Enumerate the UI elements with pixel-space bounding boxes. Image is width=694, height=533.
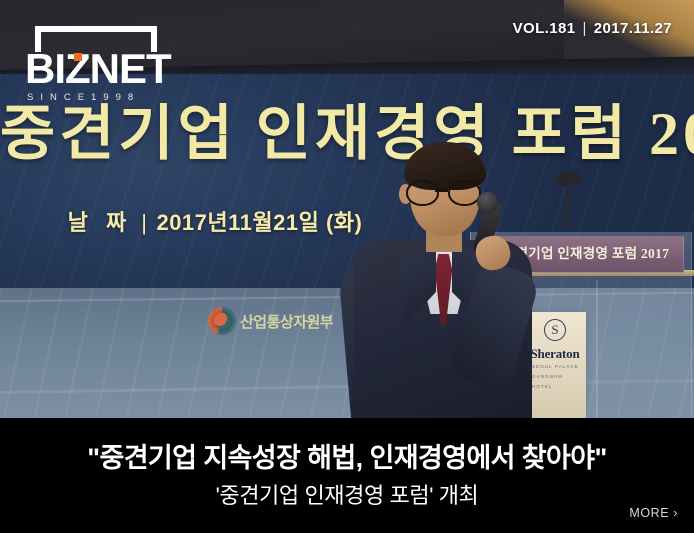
taegeuk-icon bbox=[208, 307, 236, 335]
sheraton-crest-icon: S bbox=[544, 319, 566, 341]
banner-date-separator: | bbox=[132, 210, 156, 235]
more-link[interactable]: MORE› bbox=[629, 506, 678, 520]
banner-date-label: 날 짜 bbox=[68, 210, 133, 235]
glasses-bridge bbox=[435, 189, 448, 192]
newsletter-banner: 중견기업 인재경영 포럼 2017 날 짜|2017년11월21일 (화) 산업… bbox=[0, 0, 694, 533]
caption-headline: "중견기업 지속성장 해법, 인재경영에서 찾아야" bbox=[0, 436, 694, 475]
issue-meta-separator: | bbox=[575, 20, 593, 37]
issue-meta: VOL.181|2017.11.27 bbox=[513, 20, 672, 37]
issue-date: 2017.11.27 bbox=[594, 20, 672, 37]
biznet-tagline: SINCE1998 bbox=[27, 92, 177, 103]
biznet-logo[interactable]: BIZNET SINCE1998 bbox=[25, 26, 175, 104]
glasses-lens-left bbox=[406, 180, 439, 206]
biznet-wordmark: BIZNET bbox=[25, 48, 175, 90]
hero-photo: 중견기업 인재경영 포럼 2017 날 짜|2017년11월21일 (화) 산업… bbox=[0, 0, 694, 418]
logo-orange-dot-icon bbox=[74, 53, 82, 61]
caption-subhead: '중견기업 인재경영 포럼' 개최 bbox=[0, 478, 694, 510]
issue-volume: VOL.181 bbox=[513, 20, 576, 37]
chevron-right-icon: › bbox=[669, 506, 678, 520]
sponsor-name-motie: 산업통상자원부 bbox=[240, 311, 333, 332]
banner-title: 중견기업 인재경영 포럼 2017 bbox=[0, 104, 694, 164]
speaker-figure bbox=[352, 140, 542, 418]
caption-bar: "중견기업 지속성장 해법, 인재경영에서 찾아야" '중견기업 인재경영 포럼… bbox=[0, 418, 694, 533]
banner-date-value: 2017년11월21일 (화) bbox=[156, 210, 362, 235]
glasses-icon bbox=[404, 180, 486, 202]
podium-glass-edge-right bbox=[596, 280, 598, 418]
more-label: MORE bbox=[629, 506, 669, 520]
